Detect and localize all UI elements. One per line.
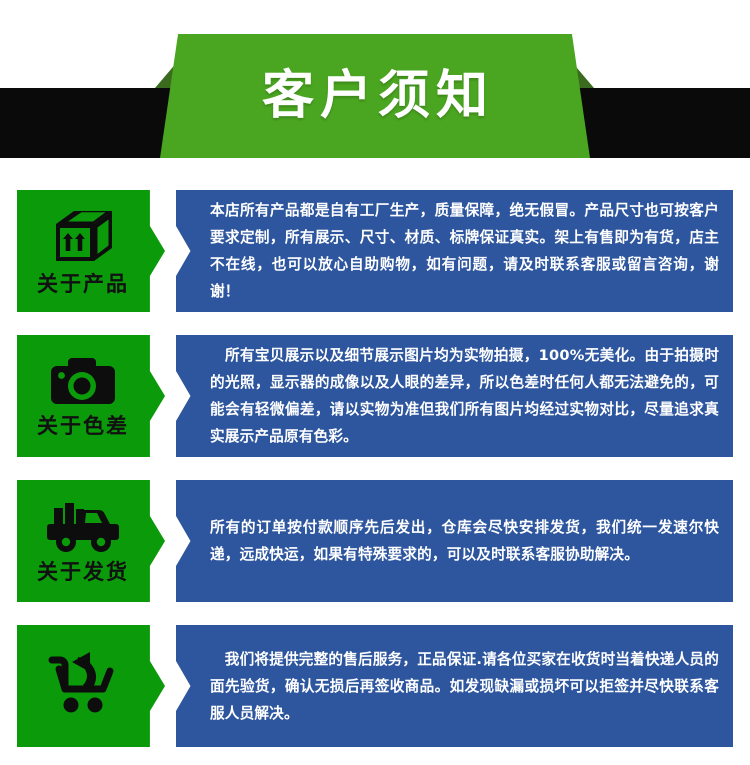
message-panel-aftersales: 我们将提供完整的售后服务，正品保证.请各位买家在收货时当着快递人员的面先验货，确…: [176, 625, 733, 747]
return-cart-icon: [45, 649, 121, 715]
info-row-product: 关于产品 本店所有产品都是自有工厂生产，质量保障，绝无假冒。产品尺寸也可按客户要…: [0, 190, 750, 312]
message-panel-color: 所有宝贝展示以及细节展示图片均为实物拍摄，100%无美化。由于拍摄时的光照，显示…: [176, 335, 733, 457]
info-row-shipping: 关于发货 所有的订单按付款顺序先后发出，仓库会尽快安排发货，我们统一发速尔快递，…: [0, 480, 750, 602]
info-row-color: 关于色差 所有宝贝展示以及细节展示图片均为实物拍摄，100%无美化。由于拍摄时的…: [0, 335, 750, 457]
category-label-shipping: 关于发货: [37, 562, 129, 583]
category-card-color[interactable]: 关于色差: [17, 335, 165, 457]
camera-icon: [47, 356, 119, 408]
carton-box-icon: [48, 208, 118, 266]
category-label-color: 关于色差: [37, 416, 129, 437]
page-title: 客户须知: [256, 70, 494, 122]
category-card-shipping[interactable]: 关于发货: [17, 480, 165, 602]
category-card-aftersales[interactable]: [17, 625, 165, 747]
category-card-product[interactable]: 关于产品: [17, 190, 165, 312]
message-text-product: 本店所有产品都是自有工厂生产，质量保障，绝无假冒。产品尺寸也可按客户要求定制，所…: [210, 197, 719, 305]
message-text-aftersales: 我们将提供完整的售后服务，正品保证.请各位买家在收货时当着快递人员的面先验货，确…: [210, 646, 719, 727]
category-label-product: 关于产品: [37, 274, 129, 295]
message-panel-shipping: 所有的订单按付款顺序先后发出，仓库会尽快安排发货，我们统一发速尔快递，远成快运，…: [176, 480, 733, 602]
info-row-aftersales: 我们将提供完整的售后服务，正品保证.请各位买家在收货时当着快递人员的面先验货，确…: [0, 625, 750, 747]
page-root: 客户须知: [0, 0, 750, 765]
message-panel-product: 本店所有产品都是自有工厂生产，质量保障，绝无假冒。产品尺寸也可按客户要求定制，所…: [176, 190, 733, 312]
banner-ribbon: 客户须知: [160, 34, 590, 158]
forklift-truck-icon: [44, 500, 122, 554]
message-text-color: 所有宝贝展示以及细节展示图片均为实物拍摄，100%无美化。由于拍摄时的光照，显示…: [210, 342, 719, 450]
message-text-shipping: 所有的订单按付款顺序先后发出，仓库会尽快安排发货，我们统一发速尔快递，远成快运，…: [210, 514, 719, 568]
header-banner: 客户须知: [0, 0, 750, 180]
